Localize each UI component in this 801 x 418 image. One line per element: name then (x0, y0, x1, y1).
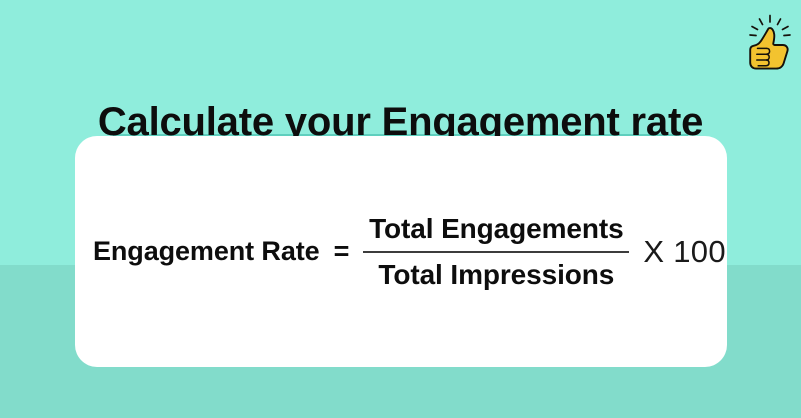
thumbs-up-icon (745, 14, 793, 72)
formula-card: Engagement Rate = Total Engagements Tota… (75, 136, 727, 367)
fraction-numerator: Total Engagements (369, 212, 623, 246)
formula-label: Engagement Rate (93, 236, 320, 267)
fraction: Total Engagements Total Impressions (362, 212, 630, 292)
header-block: Calculate your Engagement rate (0, 50, 801, 104)
slide-canvas: Calculate your Engagement rate (0, 0, 801, 418)
fraction-bar (363, 251, 629, 253)
equals-sign: = (334, 236, 350, 267)
fraction-denominator: Total Impressions (378, 258, 614, 292)
engagement-rate-formula: Engagement Rate = Total Engagements Tota… (75, 136, 727, 367)
multiplier-text: X 100 (643, 234, 726, 270)
